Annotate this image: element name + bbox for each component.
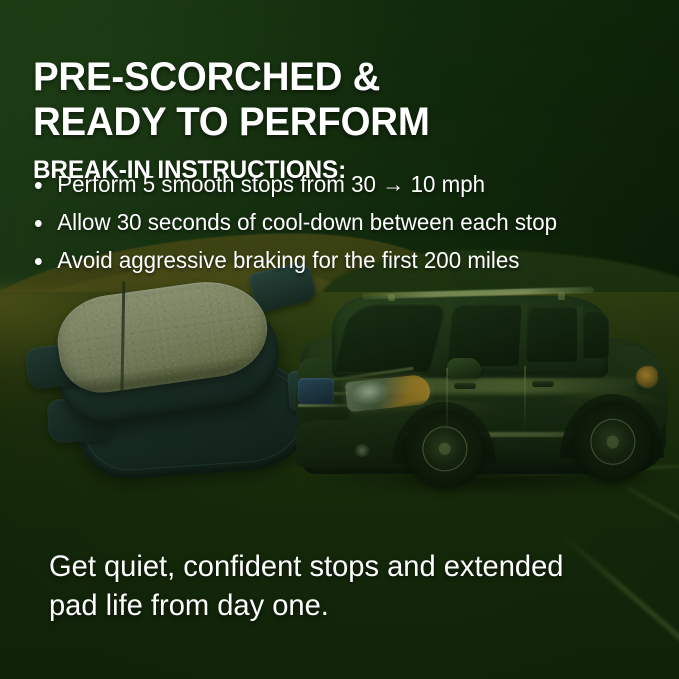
tagline: Get quiet, confident stops and extended … <box>49 547 631 625</box>
list-item: Perform 5 smooth stops from 30 → 10 mph <box>33 172 634 197</box>
list-item: Avoid aggressive braking for the first 2… <box>33 248 634 273</box>
break-in-instructions-list: Perform 5 smooth stops from 30 → 10 mph … <box>33 172 653 285</box>
page-title: PRE-SCORCHED & READY TO PERFORM <box>33 55 628 145</box>
infographic-canvas: PRE-SCORCHED & READY TO PERFORM BREAK-IN… <box>0 0 679 679</box>
tagline-line-1: Get quiet, confident stops and extended <box>49 547 631 586</box>
headline-line-2: READY TO PERFORM <box>33 100 628 145</box>
tagline-line-2: pad life from day one. <box>49 586 631 625</box>
list-item: Allow 30 seconds of cool-down between ea… <box>33 210 634 235</box>
text-overlay: PRE-SCORCHED & READY TO PERFORM BREAK-IN… <box>0 0 679 679</box>
headline-line-1: PRE-SCORCHED & <box>33 55 628 100</box>
